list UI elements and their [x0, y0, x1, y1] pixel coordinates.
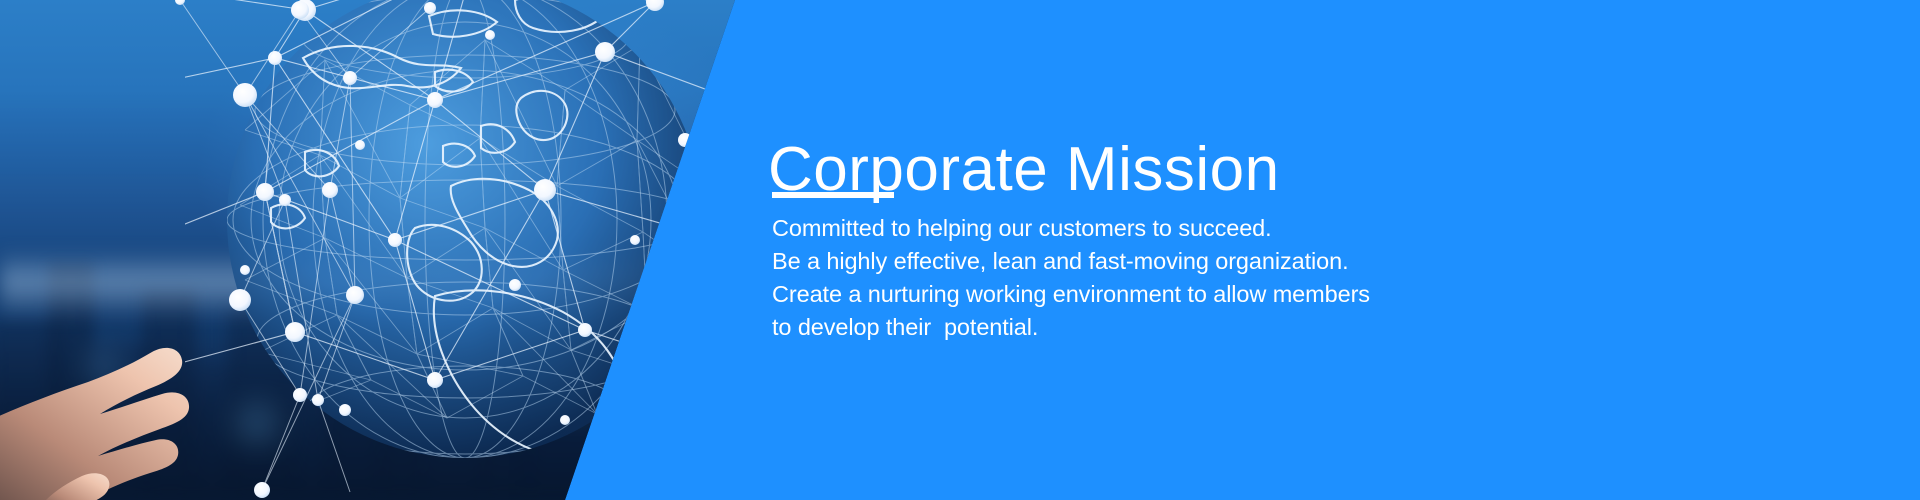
- mission-line: Create a nurturing working environment t…: [772, 278, 1392, 311]
- globe-network-photo: [0, 0, 790, 500]
- title-underline: [772, 192, 894, 198]
- mission-line: Be a highly effective, lean and fast-mov…: [772, 245, 1392, 278]
- mission-line: Committed to helping our customers to su…: [772, 212, 1392, 245]
- mission-statement: Committed to helping our customers to su…: [772, 212, 1392, 344]
- mission-content: Corporate Mission Committed to helping o…: [768, 0, 1668, 500]
- corporate-mission-banner: Corporate Mission Committed to helping o…: [0, 0, 1920, 500]
- mission-line: to develop their potential.: [772, 311, 1392, 344]
- reaching-hand: [0, 290, 300, 500]
